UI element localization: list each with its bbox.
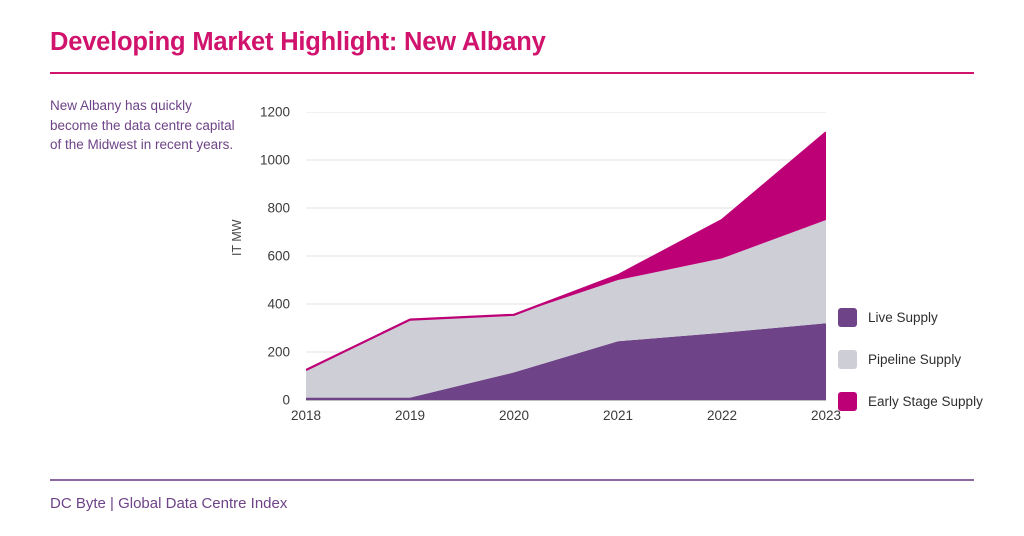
chart-svg [306, 112, 826, 400]
area-chart: IT MW 1200 1000 800 600 400 200 0 2018 [236, 96, 846, 436]
chart-legend: Live Supply Pipeline Supply Early Stage … [838, 296, 1018, 422]
legend-swatch-live-supply [838, 308, 857, 327]
legend-swatch-early-stage-supply [838, 392, 857, 411]
stacked-area-series [306, 132, 826, 400]
y-tick-0: 0 [230, 393, 290, 408]
y-tick-1000: 1000 [230, 153, 290, 168]
title-divider [50, 72, 974, 74]
legend-item-early-stage-supply[interactable]: Early Stage Supply [838, 380, 1018, 422]
page-title: Developing Market Highlight: New Albany [50, 28, 546, 57]
legend-label-live-supply: Live Supply [868, 310, 938, 325]
legend-item-live-supply[interactable]: Live Supply [838, 296, 1018, 338]
y-tick-200: 200 [230, 345, 290, 360]
x-axis-line [306, 400, 826, 401]
y-tick-600: 600 [230, 249, 290, 264]
y-tick-1200: 1200 [230, 105, 290, 120]
legend-label-pipeline-supply: Pipeline Supply [868, 352, 961, 367]
x-tick-2021: 2021 [603, 408, 633, 423]
caption-text: New Albany has quickly become the data c… [50, 96, 240, 155]
x-tick-2022: 2022 [707, 408, 737, 423]
slide-canvas: Developing Market Highlight: New Albany … [0, 0, 1024, 536]
legend-label-early-stage-supply: Early Stage Supply [868, 394, 983, 409]
legend-swatch-pipeline-supply [838, 350, 857, 369]
footer-source: DC Byte | Global Data Centre Index [50, 495, 287, 512]
plot-area [306, 112, 826, 400]
y-tick-400: 400 [230, 297, 290, 312]
x-tick-2020: 2020 [499, 408, 529, 423]
x-tick-2018: 2018 [291, 408, 321, 423]
y-tick-800: 800 [230, 201, 290, 216]
x-tick-2019: 2019 [395, 408, 425, 423]
footer-divider [50, 479, 974, 481]
legend-item-pipeline-supply[interactable]: Pipeline Supply [838, 338, 1018, 380]
x-tick-2023: 2023 [811, 408, 841, 423]
